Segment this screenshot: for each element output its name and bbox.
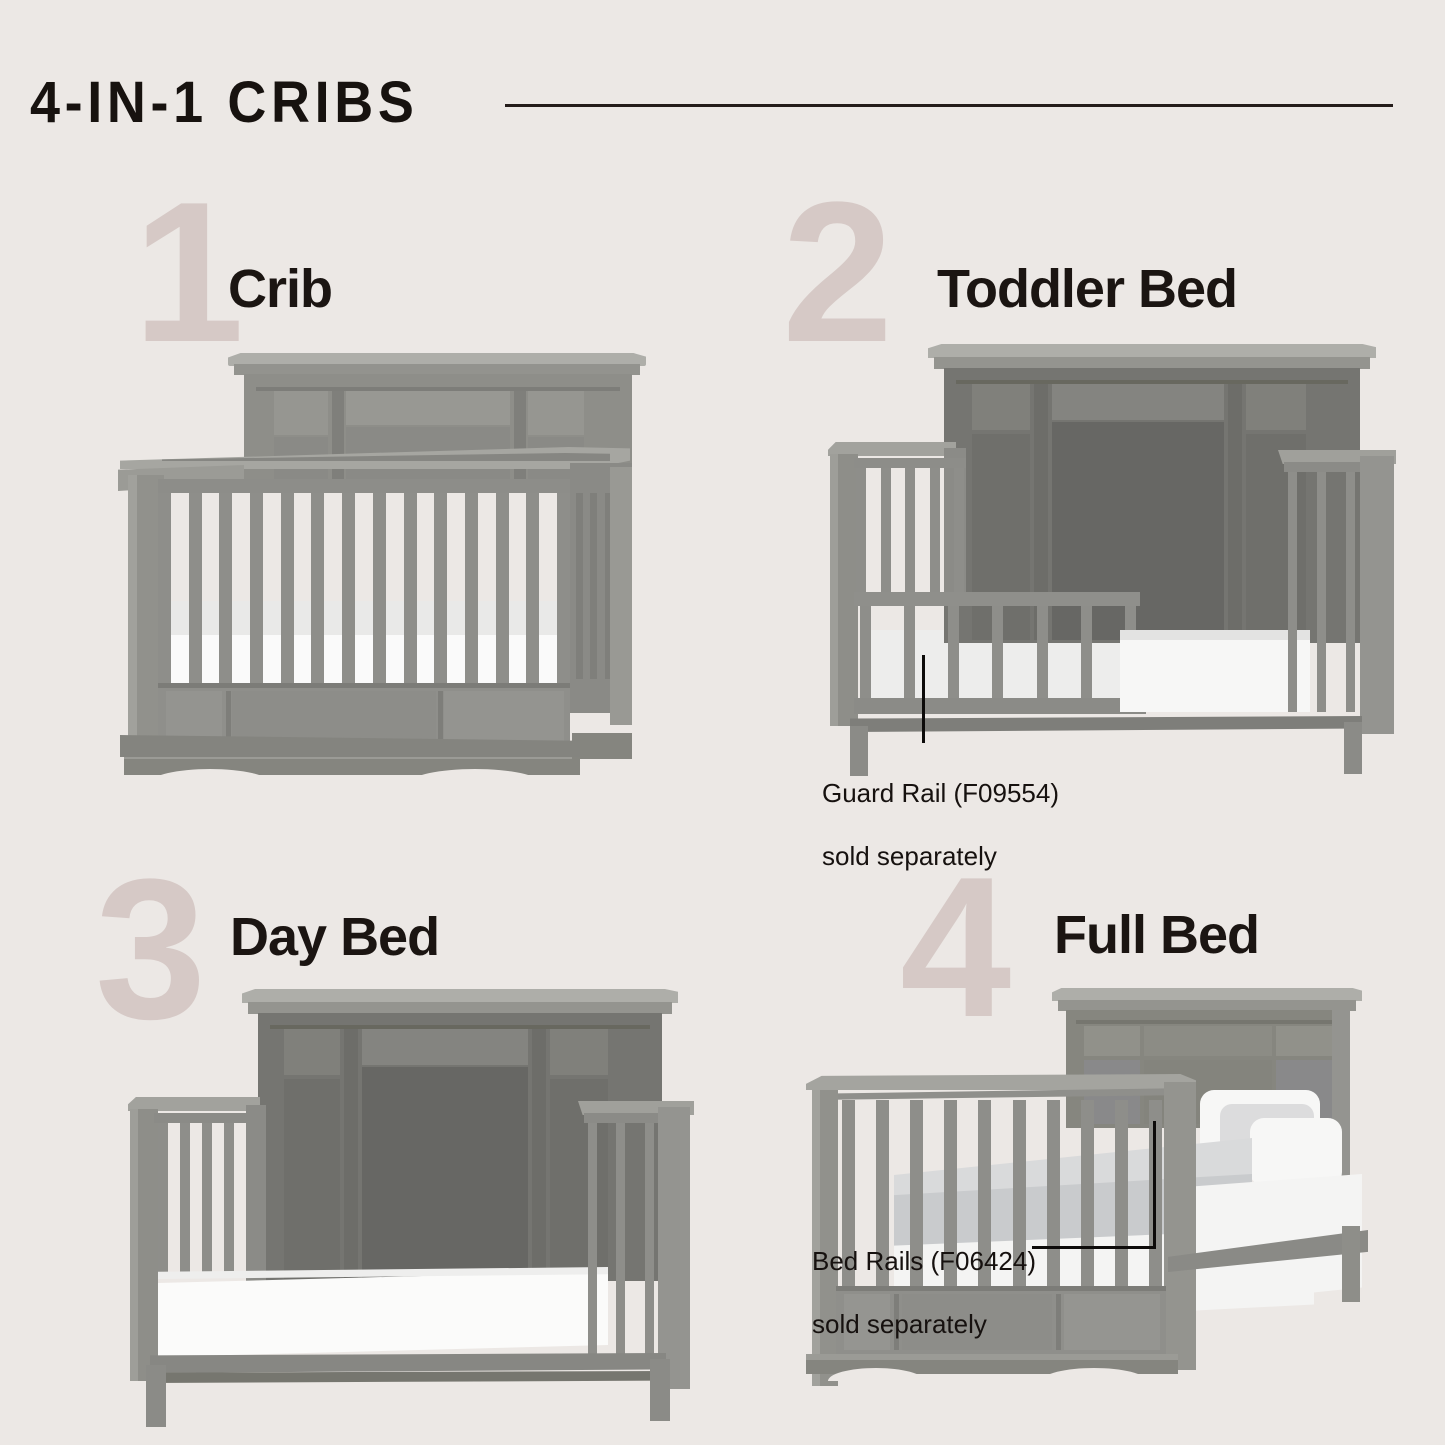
step-number-2: 2 — [782, 195, 893, 351]
title-divider-rule — [505, 104, 1393, 107]
bed-rails-annotation: Bed Rails (F06424) sold separately — [812, 1214, 1036, 1341]
panel-full-bed: 4 Full Bed — [722, 850, 1445, 1445]
crib-illustration — [110, 335, 670, 825]
panel-crib: 1 Crib — [0, 190, 722, 850]
step-heading-toddler-bed: Toddler Bed — [937, 262, 1237, 316]
bed-rails-leader-horizontal — [1032, 1246, 1156, 1249]
panel-toddler-bed: 2 Toddler Bed — [722, 190, 1445, 850]
day-bed-illustration — [110, 975, 690, 1395]
step-heading-full-bed: Full Bed — [1054, 908, 1259, 962]
guard-rail-leader-line — [922, 655, 925, 743]
panel-day-bed: 3 Day Bed — [0, 850, 722, 1445]
infographic-page: 4-IN-1 CRIBS 1 Crib — [0, 0, 1445, 1445]
bed-rails-leader-vertical — [1153, 1121, 1156, 1249]
toddler-bed-illustration — [820, 330, 1400, 750]
bed-rails-annotation-line1: Bed Rails (F06424) — [812, 1246, 1036, 1276]
page-title: 4-IN-1 CRIBS — [30, 74, 418, 132]
guard-rail-annotation-line1: Guard Rail (F09554) — [822, 778, 1059, 808]
step-heading-day-bed: Day Bed — [230, 910, 439, 964]
step-heading-crib: Crib — [228, 262, 332, 316]
bed-rails-annotation-line2: sold separately — [812, 1309, 987, 1339]
